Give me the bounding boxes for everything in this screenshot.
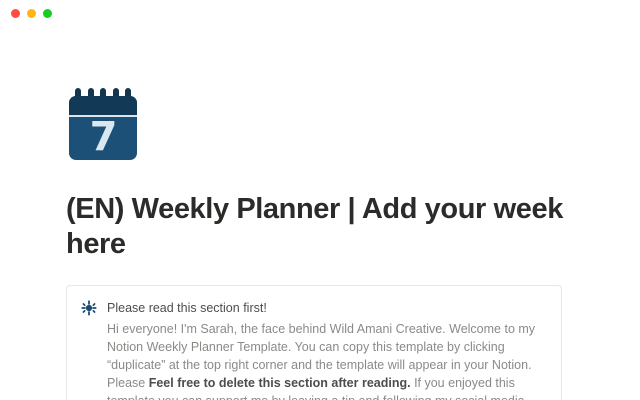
calendar-header-band — [69, 96, 137, 115]
page-content: 7 (EN) Weekly Planner | Add your week he… — [0, 88, 640, 400]
maximize-window-button[interactable] — [43, 9, 52, 18]
notion-page: 7 (EN) Weekly Planner | Add your week he… — [0, 26, 640, 400]
traffic-lights — [0, 9, 52, 18]
callout-body: Please read this section first! Hi every… — [107, 299, 547, 400]
calendar-icon[interactable]: 7 — [66, 88, 140, 162]
callout-text-bold: Feel free to delete this section after r… — [149, 376, 411, 390]
calendar-day-number: 7 — [69, 115, 137, 160]
page-title[interactable]: (EN) Weekly Planner | Add your week here — [66, 192, 566, 263]
callout-text: Hi everyone! I'm Sarah, the face behind … — [107, 320, 547, 400]
callout-block[interactable]: Please read this section first! Hi every… — [66, 285, 562, 400]
close-window-button[interactable] — [11, 9, 20, 18]
sparkle-icon — [81, 300, 97, 316]
browser-window: 7 (EN) Weekly Planner | Add your week he… — [0, 0, 640, 400]
calendar-body: 7 — [69, 96, 137, 160]
window-titlebar — [0, 0, 640, 26]
minimize-window-button[interactable] — [27, 9, 36, 18]
callout-heading: Please read this section first! — [107, 299, 547, 317]
